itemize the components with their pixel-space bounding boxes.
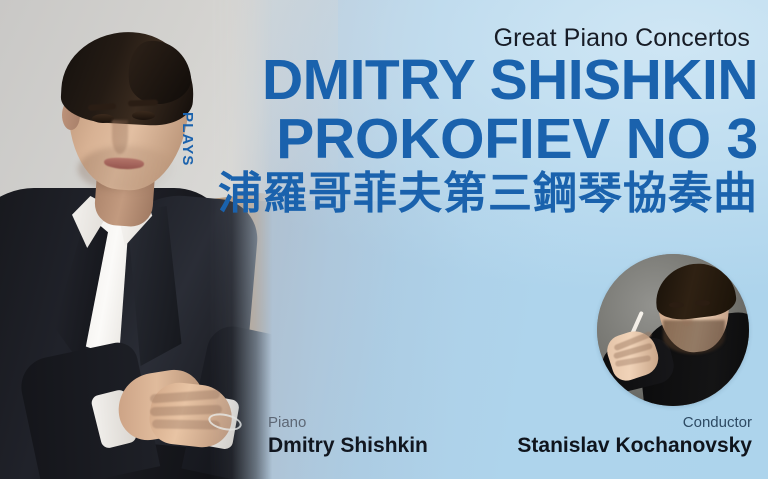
credit-conductor-role: Conductor [517,414,752,432]
conductor-eye-left [669,302,684,308]
pianist-nose [112,120,128,154]
conductor-beard [663,320,725,354]
pianist-eye-right [132,111,155,120]
credit-conductor: Conductor Stanislav Kochanovsky [517,414,752,458]
conductor-photo [597,254,749,406]
conductor-eye-right [695,300,710,306]
credit-piano-name: Dmitry Shishkin [268,434,428,459]
pianist-eye-left [92,114,114,123]
title-line-work: PROKOFIEV NO 3 [210,111,758,168]
plays-label: PLAYS [179,112,196,167]
title-line-artist: DMITRY SHISHKIN [210,52,758,109]
credit-piano: Piano Dmitry Shishkin [268,414,428,458]
title-block: DMITRY SHISHKIN PROKOFIEV NO 3 浦羅哥菲夫第三鋼琴… [210,52,758,217]
credit-conductor-name: Stanislav Kochanovsky [517,434,752,459]
credit-piano-role: Piano [268,414,428,432]
title-line-chinese: 浦羅哥菲夫第三鋼琴協奏曲 [210,171,758,217]
pianist-brow-right [128,99,158,106]
concert-poster: Great Piano Concertos DMITRY SHISHKIN PR… [0,0,768,479]
